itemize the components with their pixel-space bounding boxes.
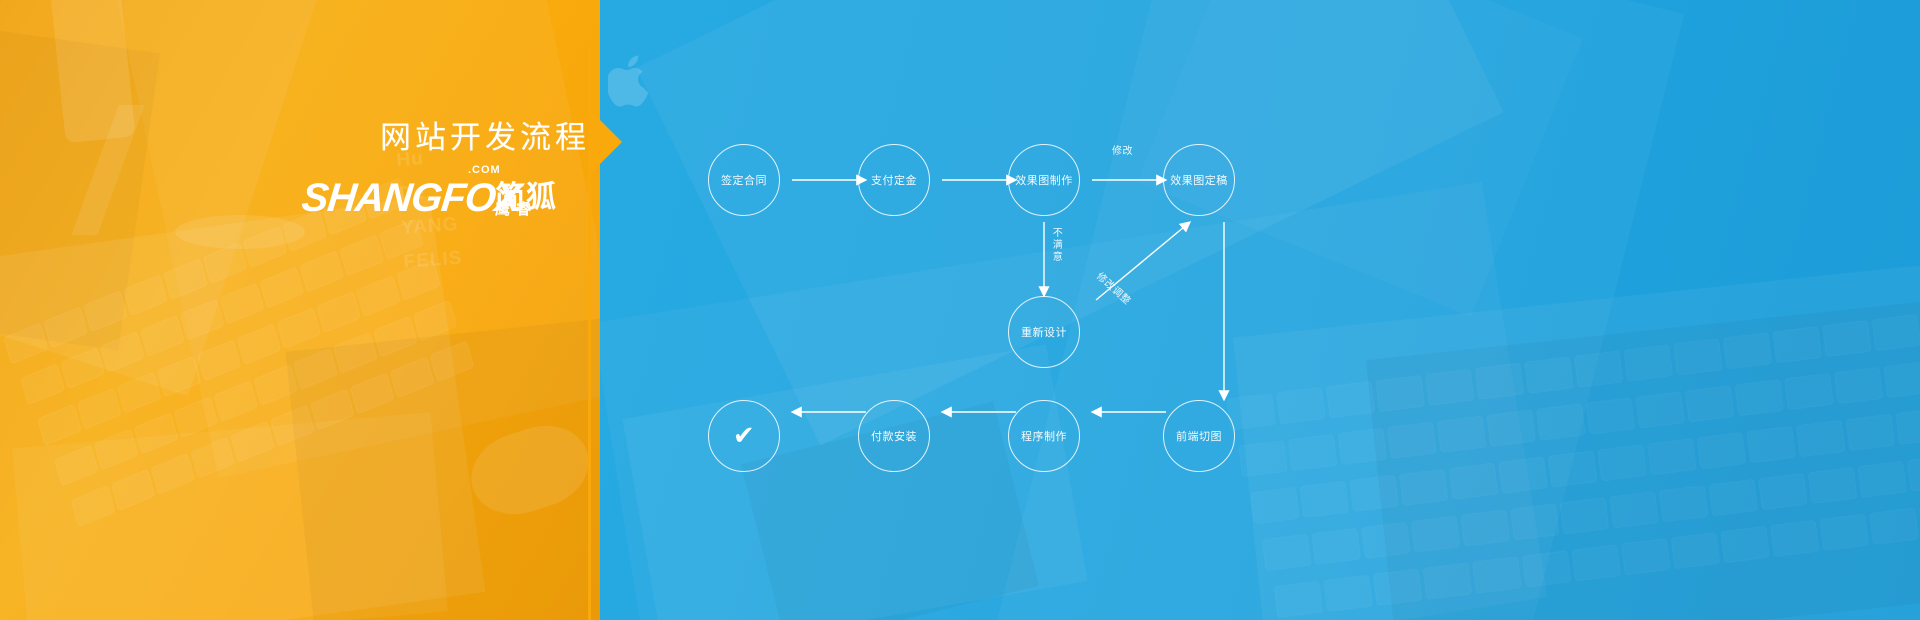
flow-node-label: 程序制作 [1021,428,1067,444]
flow-node-label: 支付定金 [871,172,917,188]
flowchart-connectors [0,0,1920,620]
edge-label-unsatisfied: 不满意 [1052,228,1064,264]
flow-node-complete[interactable]: ✔ [708,400,780,472]
flow-node-sign-contract[interactable]: 签定合同 [708,144,780,216]
flow-node-redesign[interactable]: 重新设计 [1008,296,1080,368]
edge-label-modify: 修改 [1112,142,1133,157]
flow-node-final-mockup[interactable]: 效果图定稿 [1163,144,1235,216]
check-icon: ✔ [733,421,755,451]
website-process-banner: Hu De YANG FELIS 网站开发流程 SHANGFOX .COM 简狐… [0,0,1920,620]
flow-node-label: 重新设计 [1021,324,1067,340]
flow-node-payment-install[interactable]: 付款安装 [858,400,930,472]
flow-node-pay-deposit[interactable]: 支付定金 [858,144,930,216]
flow-node-label: 付款安装 [871,428,917,444]
flow-node-label: 签定合同 [721,172,767,188]
flow-node-label: 效果图定稿 [1170,172,1228,188]
flow-node-design-mockup[interactable]: 效果图制作 [1008,144,1080,216]
flow-node-label: 前端切图 [1176,428,1222,444]
flow-node-program-development[interactable]: 程序制作 [1008,400,1080,472]
flow-node-label: 效果图制作 [1015,172,1073,188]
flow-node-frontend-slicing[interactable]: 前端切图 [1163,400,1235,472]
process-flowchart: 签定合同 支付定金 效果图制作 效果图定稿 重新设计 前端切图 程序制作 付款安… [0,0,1920,620]
edge-label-adjust: 修改调整 [1094,268,1135,307]
